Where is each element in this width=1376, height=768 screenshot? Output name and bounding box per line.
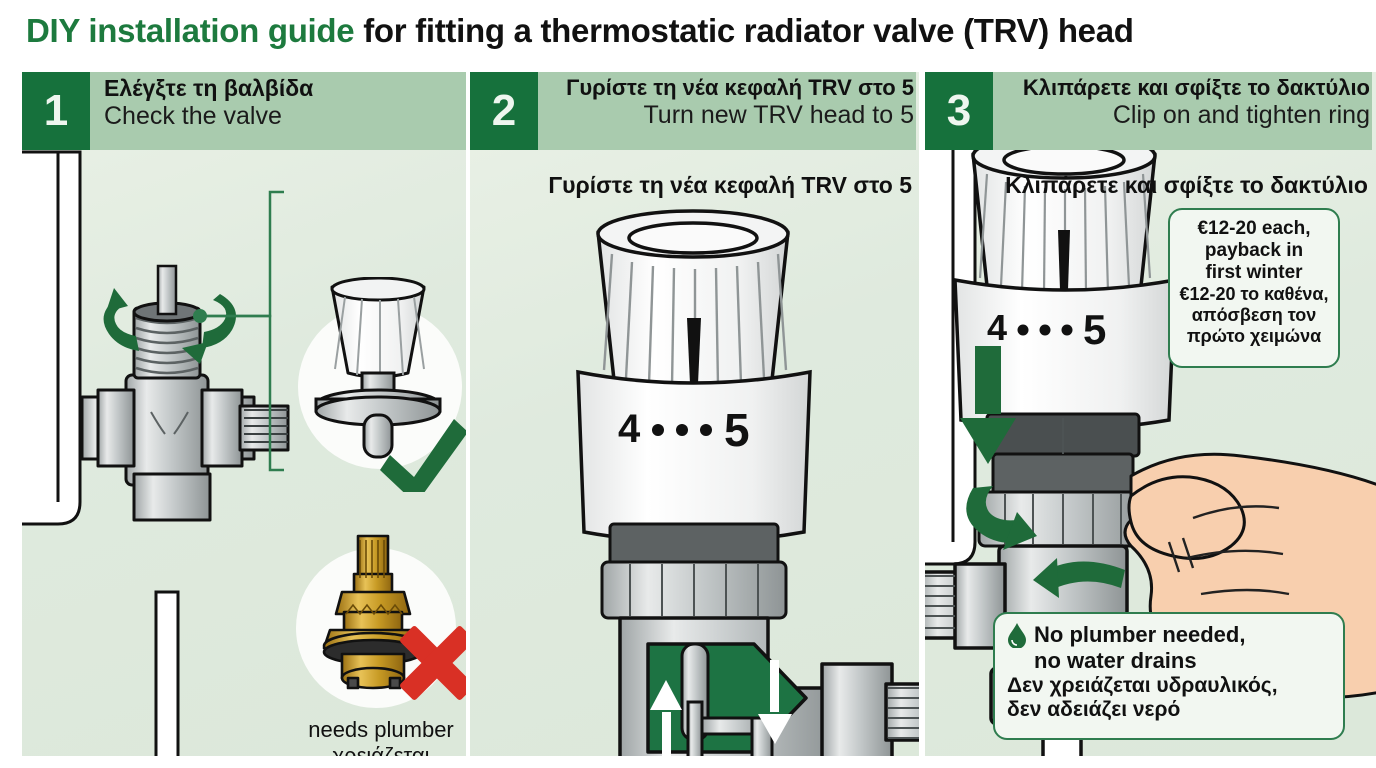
infographic-page: DIY installation guide for fitting a the…: [0, 0, 1376, 768]
header-title-en: Check the valve: [104, 102, 466, 130]
needs-plumber-el-1: χρειάζεται: [270, 743, 472, 756]
header-title-el: Γυρίστε τη νέα κεφαλή TRV στο 5: [542, 76, 914, 101]
header-title-en: Clip on and tighten ring: [997, 101, 1370, 129]
plumber-el-2: δεν αδειάζει νερό: [1007, 698, 1333, 722]
cost-el-2: απόσβεση τον: [1176, 305, 1332, 326]
needs-plumber-caption: needs plumber χρειάζεται υδραυλικό: [270, 717, 472, 756]
good-valve-inset: [292, 277, 472, 492]
dial-label-high: 5: [724, 404, 750, 456]
header-text: Ελέγξτε τη βαλβίδα Check the valve: [104, 76, 466, 130]
cost-el-3: πρώτο χειμώνα: [1176, 326, 1332, 347]
panel-2-subcaption: Γυρίστε τη νέα κεφαλή TRV στο 5: [470, 172, 912, 199]
water-drop-icon: [1007, 622, 1027, 648]
cost-en-2: payback in: [1176, 240, 1332, 262]
step-number: 2: [470, 72, 538, 150]
cost-en-3: first winter: [1176, 262, 1332, 284]
cost-callout: €12-20 each, payback in first winter €12…: [1168, 208, 1340, 368]
step-number: 3: [925, 72, 993, 150]
panel-1-header: 1 Ελέγξτε τη βαλβίδα Check the valve: [22, 72, 472, 150]
title-rest: for fitting a thermostatic radiator valv…: [354, 12, 1133, 49]
plumber-en-1: No plumber needed,: [1034, 622, 1245, 648]
header-title-el: Κλιπάρετε και σφίξτε το δακτύλιο: [997, 76, 1370, 101]
title-accent: DIY installation guide: [26, 12, 354, 49]
header-title-en: Turn new TRV head to 5: [542, 101, 914, 129]
dial-label-low: 4: [618, 407, 641, 451]
plumber-callout: No plumber needed, no water drains Δεν χ…: [993, 612, 1345, 740]
page-title: DIY installation guide for fitting a the…: [26, 12, 1366, 50]
svg-text:4: 4: [987, 307, 1007, 348]
cost-en-1: €12-20 each,: [1176, 218, 1332, 240]
plumber-el-1: Δεν χρειάζεται υδραυλικός,: [1007, 674, 1333, 698]
panel-3-header: 3 Κλιπάρετε και σφίξτε το δακτύλιο Clip …: [925, 72, 1376, 150]
cost-el-1: €12-20 το καθένα,: [1176, 284, 1332, 305]
header-text: Γυρίστε τη νέα κεφαλή TRV στο 5 Turn new…: [542, 76, 914, 129]
svg-text:5: 5: [1083, 306, 1106, 353]
step-panel-2: 4 5: [470, 72, 920, 756]
plumber-en-2: no water drains: [1034, 648, 1333, 674]
panel-3-subcaption: Κλιπάρετε και σφίξτε το δακτύλιο: [925, 172, 1368, 199]
panel-2-header: 2 Γυρίστε τη νέα κεφαλή TRV στο 5 Turn n…: [470, 72, 920, 150]
step-number: 1: [22, 72, 90, 150]
bad-valve-inset: [294, 530, 472, 725]
header-title-el: Ελέγξτε τη βαλβίδα: [104, 76, 466, 102]
step-panel-1: needs plumber χρειάζεται υδραυλικό 1 Ελέ…: [22, 72, 472, 756]
header-text: Κλιπάρετε και σφίξτε το δακτύλιο Clip on…: [997, 76, 1370, 129]
needs-plumber-en: needs plumber: [270, 717, 472, 743]
